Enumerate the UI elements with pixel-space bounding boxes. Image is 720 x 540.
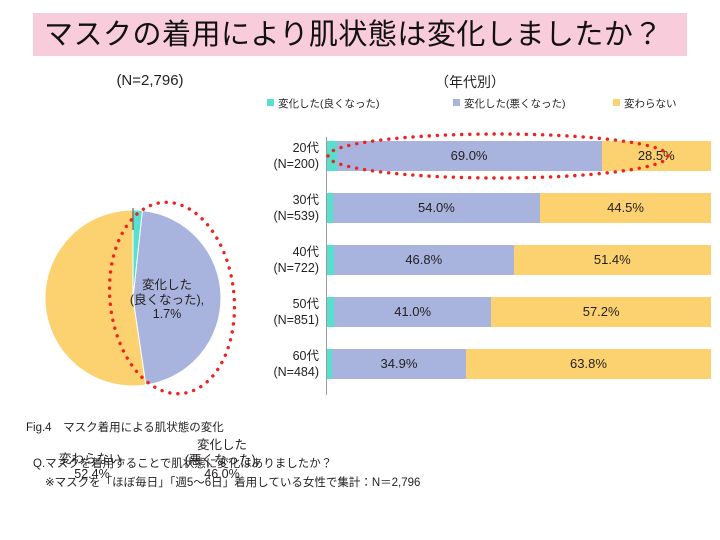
pie-label-worsened-line1: 変化した [170,438,274,453]
bar-row-sample-size: (N=539) [273,208,319,224]
pie-label-improved: 変化した (良くなった), 1.7% [112,278,222,322]
bar-row-age: 50代 [293,296,319,312]
survey-note: Q.マスクを着用することで肌状態に変化はありましたか？ ※マスクを「ほぼ毎日」「… [33,455,420,493]
legend-item-0[interactable]: 変化した(良くなった) [267,98,380,110]
bar-segment-improved [327,141,337,171]
survey-note-condition: ※マスクを「ほぼ毎日」「週5～6日」着用している女性で集計：N＝2,796 [33,474,420,493]
bar-segment-value: 41.0% [334,297,491,327]
bar-segment-improved [327,297,334,327]
bar-row-label: 50代(N=851) [255,295,319,329]
bar-segment-value: 57.2% [491,297,711,327]
bar-row-label: 20代(N=200) [255,139,319,173]
bar-row-sample-size: (N=851) [273,312,319,328]
bar-row-age: 60代 [293,348,319,364]
legend-swatch-icon [453,99,460,106]
bar-segment-value: 28.5% [602,141,711,171]
bar-segment-value [327,245,334,275]
bar-row-20代: 20代(N=200)69.0%28.5% [255,139,715,173]
bar-track: 54.0%44.5% [327,193,711,223]
bar-segment-value: 51.4% [514,245,711,275]
bar-segment-value: 54.0% [333,193,540,223]
bar-segment-value: 46.8% [334,245,514,275]
bar-segment-value: 69.0% [337,141,602,171]
bar-segment-value: 63.8% [466,349,711,379]
slide-canvas: マスクの着用により肌状態は変化しましたか？ (N=2,796) （年代別） 変化… [0,0,720,540]
bar-row-sample-size: (N=200) [273,156,319,172]
figure-caption: Fig.4 マスク着用による肌状態の変化 [26,419,224,435]
bar-row-60代: 60代(N=484)34.9%63.8% [255,347,715,381]
bar-segment-improved [327,245,334,275]
bar-segment-value: 34.9% [332,349,466,379]
legend-swatch-icon [267,99,274,106]
bar-segment-unchanged: 28.5% [602,141,711,171]
bar-segment-unchanged: 51.4% [514,245,711,275]
chart-legend: 変化した(良くなった)変化した(悪くなった)変わらない [255,98,715,116]
legend-swatch-icon [613,99,620,106]
bar-segment-worsened: 41.0% [334,297,491,327]
bar-row-sample-size: (N=484) [273,364,319,380]
bar-segment-worsened: 46.8% [334,245,514,275]
bar-row-age: 20代 [293,140,319,156]
bar-row-age: 30代 [293,192,319,208]
bar-chart: 変化した(良くなった)変化した(悪くなった)変わらない 20代(N=200)69… [255,95,715,400]
pie-label-improved-line1: 変化した [112,278,222,293]
pie-label-improved-line2: (良くなった), [112,293,222,308]
bar-row-40代: 40代(N=722)46.8%51.4% [255,243,715,277]
pie-sample-size-label: (N=2,796) [60,72,240,89]
bar-row-30代: 30代(N=539)54.0%44.5% [255,191,715,225]
bar-track: 34.9%63.8% [327,349,711,379]
pie-label-improved-value: 1.7% [112,307,222,322]
bar-segment-value [327,297,334,327]
bar-row-label: 40代(N=722) [255,243,319,277]
bar-segment-worsened: 34.9% [332,349,466,379]
bar-track: 41.0%57.2% [327,297,711,327]
page-title: マスクの着用により肌状態は変化しましたか？ [44,14,684,56]
bar-track: 69.0%28.5% [327,141,711,171]
bar-segment-worsened: 69.0% [337,141,602,171]
legend-item-2[interactable]: 変わらない [613,98,677,110]
bar-track: 46.8%51.4% [327,245,711,275]
legend-item-1[interactable]: 変化した(悪くなった) [453,98,566,110]
legend-label: 変わらない [624,98,677,110]
bar-row-label: 30代(N=539) [255,191,319,225]
legend-label: 変化した(良くなった) [278,98,380,110]
pie-chart: 変化した (良くなった), 1.7% 変化した (悪くなった), 46.0% 変… [20,170,260,395]
legend-label: 変化した(悪くなった) [464,98,566,110]
bar-segment-value: 44.5% [540,193,711,223]
bar-segment-unchanged: 63.8% [466,349,711,379]
bar-segment-value [327,141,337,171]
bar-segment-unchanged: 44.5% [540,193,711,223]
survey-note-question: Q.マスクを着用することで肌状態に変化はありましたか？ [33,458,332,470]
bar-row-label: 60代(N=484) [255,347,319,381]
bar-row-sample-size: (N=722) [273,260,319,276]
bar-segment-worsened: 54.0% [333,193,540,223]
bar-row-age: 40代 [293,244,319,260]
bar-chart-header: （年代別） [390,72,550,92]
bar-row-50代: 50代(N=851)41.0%57.2% [255,295,715,329]
bar-segment-unchanged: 57.2% [491,297,711,327]
